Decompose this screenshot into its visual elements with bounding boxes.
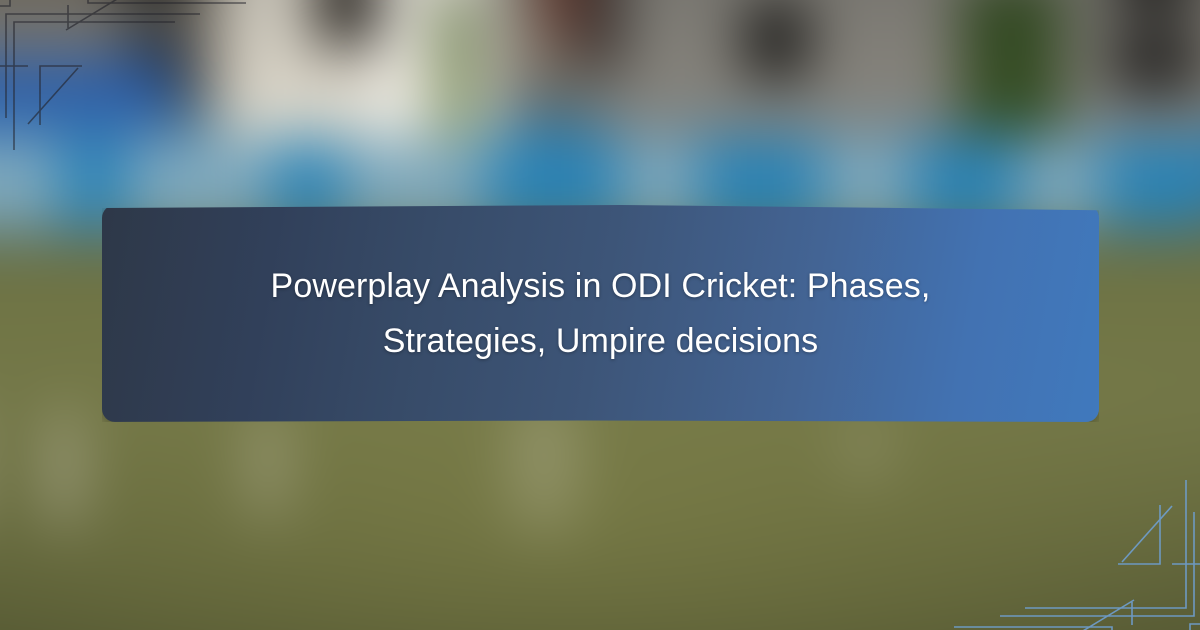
- share-card-canvas: Powerplay Analysis in ODI Cricket: Phase…: [0, 0, 1200, 630]
- title-card-content: Powerplay Analysis in ODI Cricket: Phase…: [102, 205, 1099, 422]
- title-card: Powerplay Analysis in ODI Cricket: Phase…: [102, 205, 1099, 422]
- page-title: Powerplay Analysis in ODI Cricket: Phase…: [236, 259, 966, 369]
